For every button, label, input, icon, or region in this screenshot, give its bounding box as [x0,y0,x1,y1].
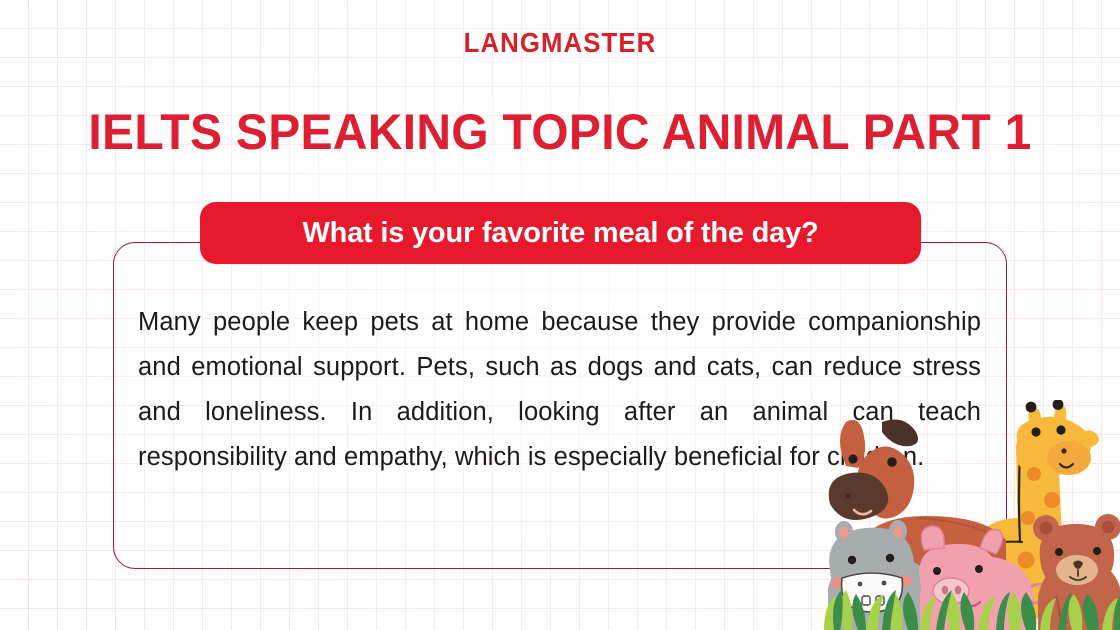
page-title: IELTS SPEAKING TOPIC ANIMAL PART 1 [22,103,1097,161]
question-banner: What is your favorite meal of the day? [200,202,921,264]
answer-paragraph: Many people keep pets at home because th… [138,300,981,480]
question-text: What is your favorite meal of the day? [302,217,818,250]
langmaster-logo: LANGMASTER [45,27,1075,59]
poster-canvas: LANGMASTER IELTS SPEAKING TOPIC ANIMAL P… [0,0,1120,630]
bear-icon [1033,514,1120,630]
grass-icon [824,590,1120,630]
